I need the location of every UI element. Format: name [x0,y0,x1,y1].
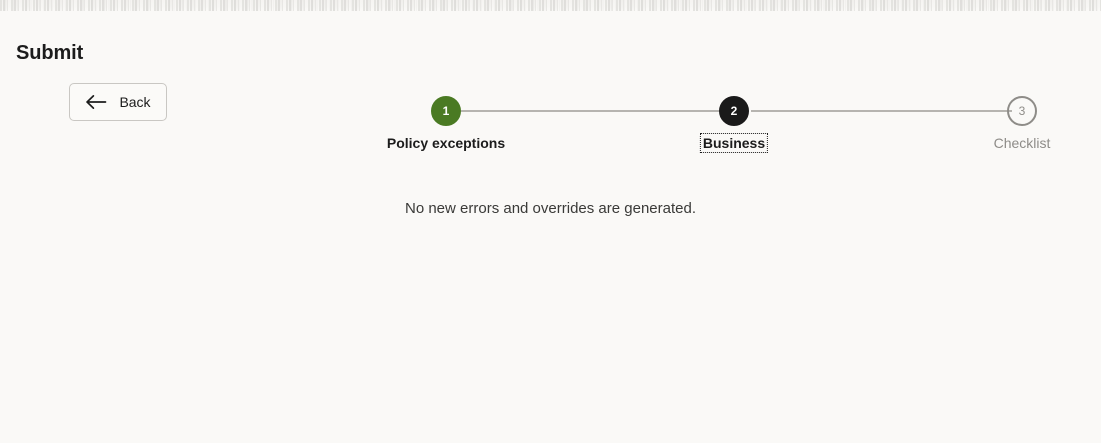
step-1-label[interactable]: Policy exceptions [385,134,507,152]
back-button[interactable]: Back [69,83,167,121]
step-3-circle[interactable]: 3 [1007,96,1037,126]
status-message: No new errors and overrides are generate… [0,198,1101,220]
stepper-connector-2-3 [751,110,1012,112]
truncated-content-strip [0,0,1101,11]
stepper-connector-1-2 [461,110,733,112]
step-2-circle[interactable]: 2 [719,96,749,126]
page-title: Submit [16,40,83,66]
back-button-label: Back [119,94,150,110]
step-2-label[interactable]: Business [701,134,767,152]
step-1-circle[interactable]: 1 [431,96,461,126]
arrow-left-icon [85,94,107,110]
progress-stepper: 1 Policy exceptions 2 Business 3 Checkli… [380,96,1085,166]
stepper-track: 1 Policy exceptions 2 Business 3 Checkli… [380,96,1085,126]
step-3-label[interactable]: Checklist [992,134,1053,152]
